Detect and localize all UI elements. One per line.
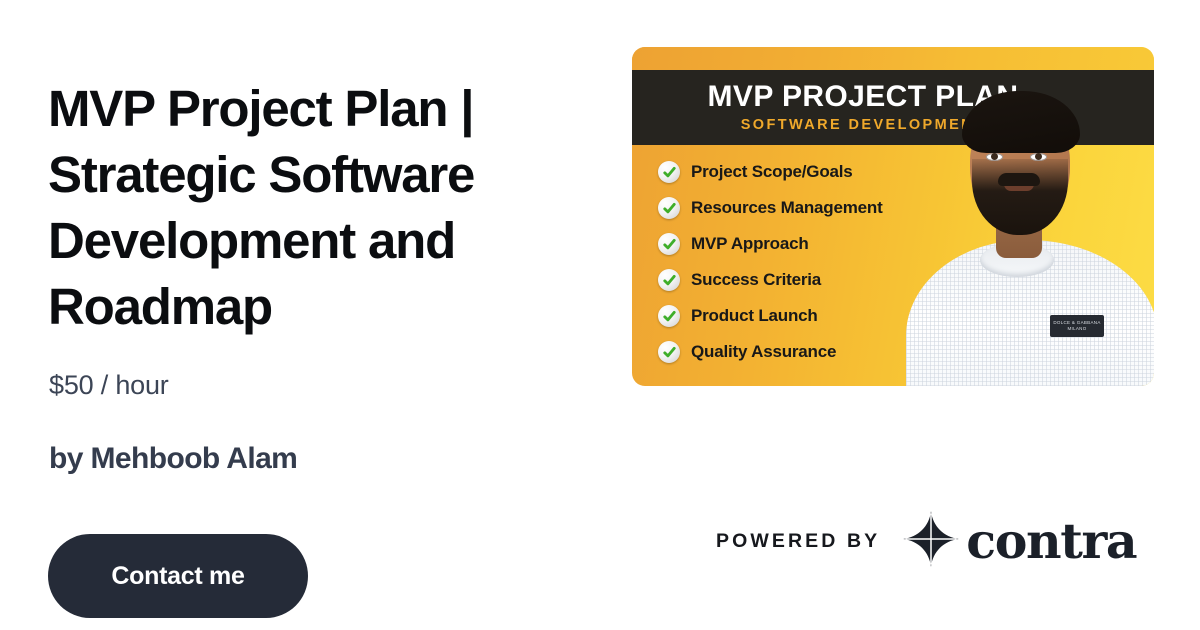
- listing-details: MVP Project Plan | Strategic Software De…: [48, 0, 608, 630]
- contra-wordmark: contra: [966, 516, 1136, 566]
- contra-star-icon: [902, 510, 960, 573]
- portrait-eye-left: [986, 153, 1003, 161]
- portrait-eye-right: [1030, 153, 1047, 161]
- contact-me-button-label: Contact me: [111, 562, 244, 591]
- list-item: Resources Management: [658, 195, 988, 221]
- list-item: MVP Approach: [658, 231, 988, 257]
- shirt-brand-line-2: MILANO: [1067, 326, 1086, 332]
- check-circle-icon: [658, 233, 680, 255]
- list-item-label: Project Scope/Goals: [691, 162, 853, 182]
- shirt-brand-tag: DOLCE & GABBANA MILANO: [1050, 315, 1104, 337]
- list-item-label: Product Launch: [691, 306, 818, 326]
- check-circle-icon: [658, 161, 680, 183]
- powered-by-label: POWERED BY: [716, 530, 880, 552]
- listing-author: by Mehboob Alam: [49, 439, 297, 479]
- list-item: Quality Assurance: [658, 339, 988, 365]
- listing-social-card: MVP Project Plan | Strategic Software De…: [0, 0, 1200, 630]
- check-circle-icon: [658, 341, 680, 363]
- list-item-label: MVP Approach: [691, 234, 809, 254]
- listing-rate: $50 / hour: [49, 368, 169, 402]
- contact-me-button[interactable]: Contact me: [48, 534, 308, 618]
- list-item-label: Quality Assurance: [691, 342, 836, 362]
- portrait-hair: [962, 91, 1080, 153]
- list-item-label: Success Criteria: [691, 270, 821, 290]
- check-circle-icon: [658, 197, 680, 219]
- list-item: Product Launch: [658, 303, 988, 329]
- powered-by-contra: POWERED BY contra: [716, 513, 1136, 569]
- check-circle-icon: [658, 305, 680, 327]
- portrait-moustache: [998, 173, 1040, 186]
- cover-feature-list: Project Scope/Goals Resources Management…: [658, 159, 988, 365]
- page-title: MVP Project Plan | Strategic Software De…: [48, 76, 588, 340]
- project-cover-card[interactable]: MVP PROJECT PLAN SOFTWARE DEVELOPMENT DO…: [632, 47, 1154, 386]
- check-circle-icon: [658, 269, 680, 291]
- list-item: Success Criteria: [658, 267, 988, 293]
- list-item: Project Scope/Goals: [658, 159, 988, 185]
- list-item-label: Resources Management: [691, 198, 883, 218]
